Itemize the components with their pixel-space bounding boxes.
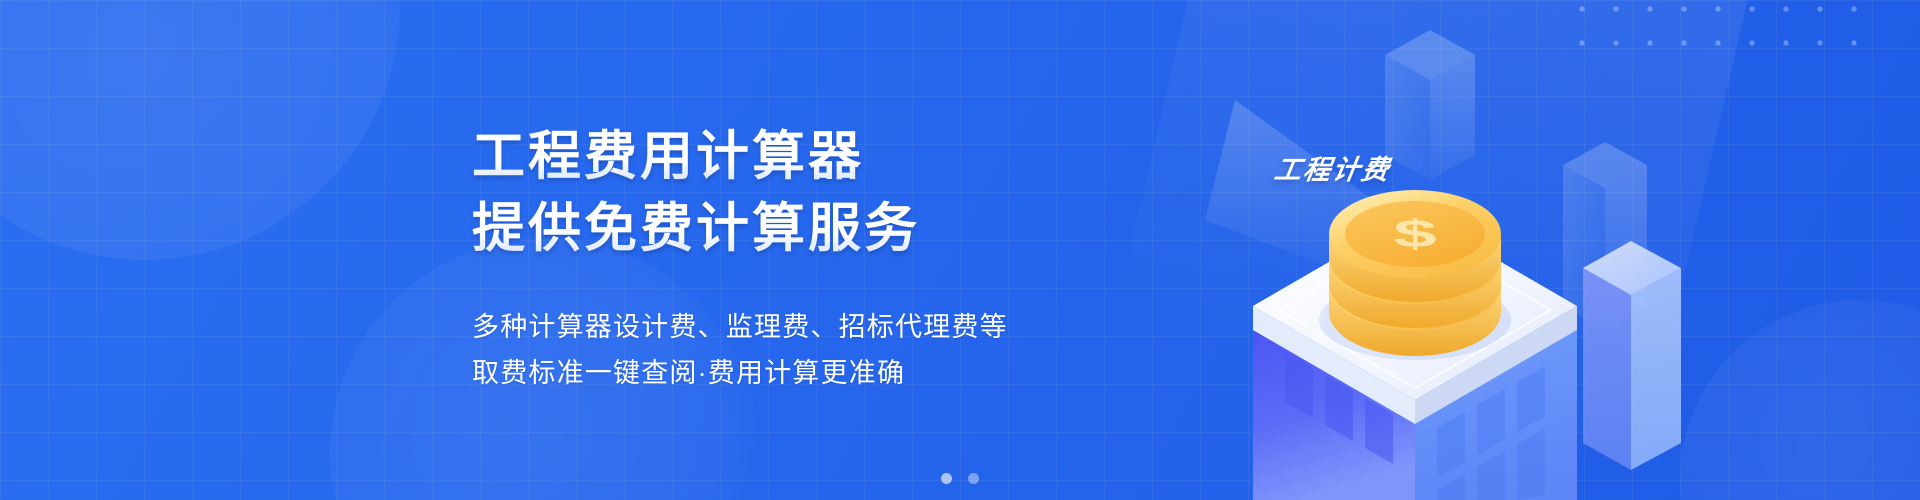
background-tower-block-right	[1583, 241, 1681, 470]
banner-illustration: $ 工程计费	[1085, 0, 1745, 500]
coin-stack: $	[1319, 190, 1511, 360]
carousel-dot-1[interactable]	[941, 473, 952, 484]
decorative-circle-top-left	[0, 0, 400, 260]
svg-text:$: $	[1393, 212, 1436, 256]
dollar-sign-icon: $	[1393, 212, 1436, 256]
promo-banner: 工程费用计算器 提供免费计算服务 多种计算器设计费、监理费、招标代理费等 取费标…	[0, 0, 1920, 500]
carousel-dot-2[interactable]	[968, 473, 979, 484]
background-tower-far-left	[1385, 30, 1475, 180]
illustration-label: 工程计费	[1272, 148, 1394, 187]
carousel-indicators[interactable]	[941, 473, 979, 484]
